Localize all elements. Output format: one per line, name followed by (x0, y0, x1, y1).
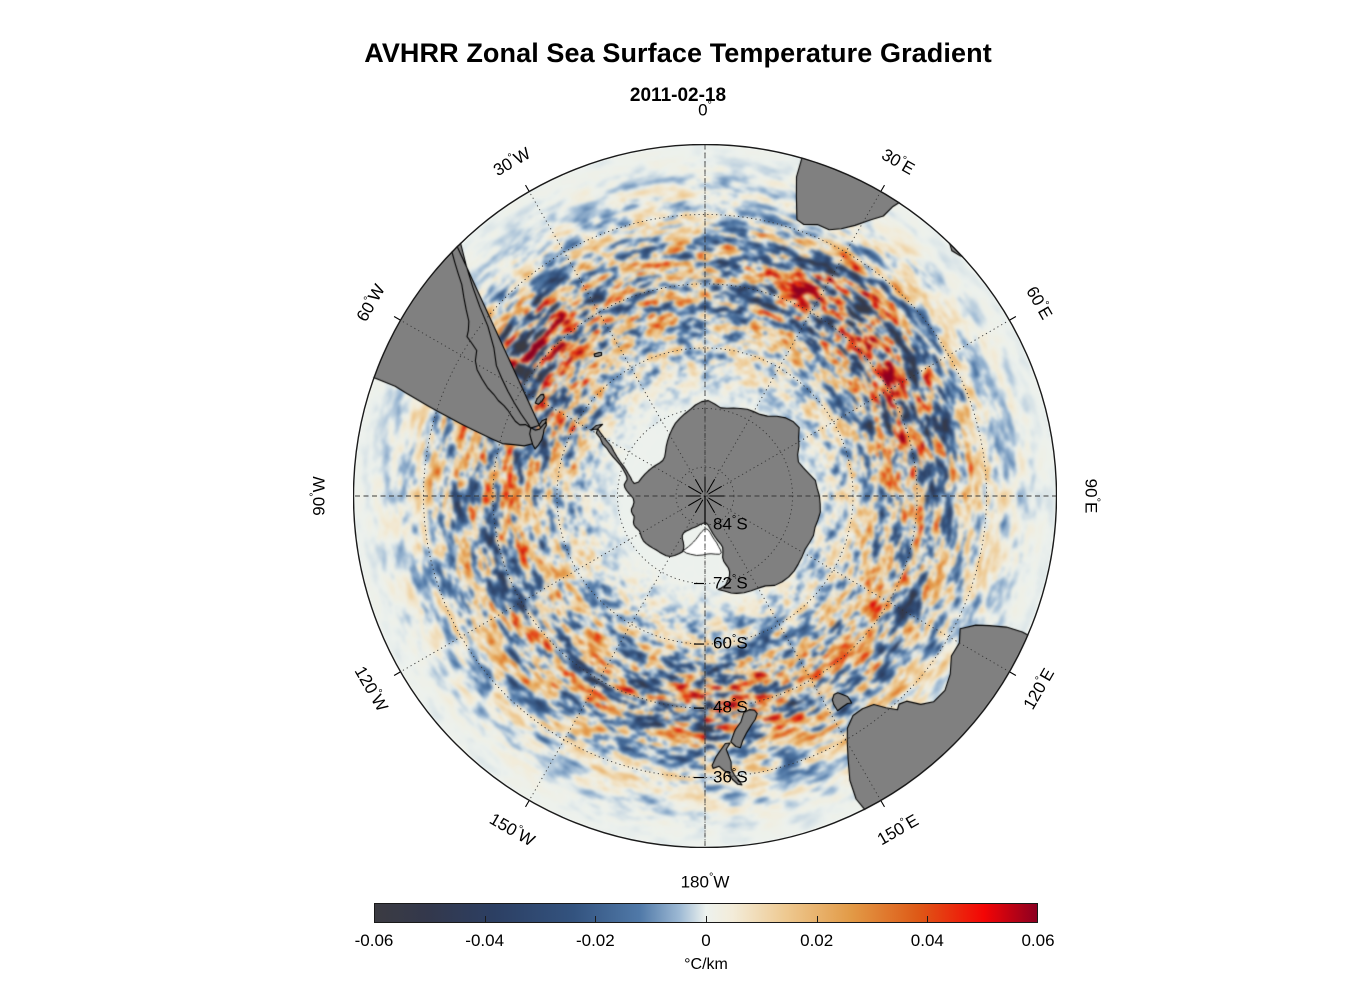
degree-symbol-icon: ° (309, 492, 321, 496)
page-title: AVHRR Zonal Sea Surface Temperature Grad… (0, 38, 1356, 69)
latitude-label-48S: 48°S (713, 697, 748, 718)
lon-label-hemisphere: E (1082, 502, 1101, 513)
degree-symbol-icon: ° (708, 100, 712, 112)
lat-label-value: 36 (713, 767, 732, 786)
latitude-label-84S: 84°S (713, 514, 748, 535)
lat-label-hemisphere: S (736, 573, 747, 592)
colorbar-tick-label: -0.02 (576, 931, 615, 951)
lat-label-hemisphere: S (736, 767, 747, 786)
colorbar-tick (817, 916, 818, 922)
colorbar-tick-label: -0.06 (355, 931, 394, 951)
colorbar-tick-label: -0.04 (465, 931, 504, 951)
graticule-overlay (353, 144, 1057, 848)
polar-map (353, 144, 1057, 848)
latitude-label-36S: 36°S (713, 767, 748, 788)
lat-label-value: 84 (713, 515, 732, 534)
lon-label-hemisphere: W (713, 872, 729, 891)
colorbar-tick-label: 0.06 (1021, 931, 1054, 951)
colorbar-tick-label: 0.04 (911, 931, 944, 951)
colorbar-unit-label: °C/km (374, 956, 1038, 974)
longitude-label-90W: 90°W (309, 476, 330, 515)
lat-label-hemisphere: S (736, 634, 747, 653)
latitude-label-60S: 60°S (713, 633, 748, 654)
longitude-label-90E: 90°E (1081, 479, 1102, 514)
figure-root: AVHRR Zonal Sea Surface Temperature Grad… (0, 0, 1356, 1000)
colorbar-tick-label: 0 (701, 931, 710, 951)
figure-subtitle: 2011-02-18 (0, 85, 1356, 107)
lat-label-value: 48 (713, 698, 732, 717)
colorbar-tick-label: 0.02 (800, 931, 833, 951)
colorbar-tick (485, 916, 486, 922)
lon-label-value: 90 (1082, 479, 1101, 498)
latitude-label-72S: 72°S (713, 573, 748, 594)
longitude-label-0zero: 0° (698, 100, 712, 121)
lat-label-value: 60 (713, 634, 732, 653)
lat-label-hemisphere: S (736, 698, 747, 717)
lat-label-hemisphere: S (736, 515, 747, 534)
lat-label-value: 72 (713, 573, 732, 592)
colorbar-tick (595, 916, 596, 922)
colorbar-tick (927, 916, 928, 922)
colorbar-tick (706, 916, 707, 922)
lon-label-value: 180 (681, 872, 709, 891)
lon-label-hemisphere: W (309, 476, 328, 492)
longitude-label-180W: 180°W (681, 872, 730, 893)
lon-label-value: 90 (309, 497, 328, 516)
